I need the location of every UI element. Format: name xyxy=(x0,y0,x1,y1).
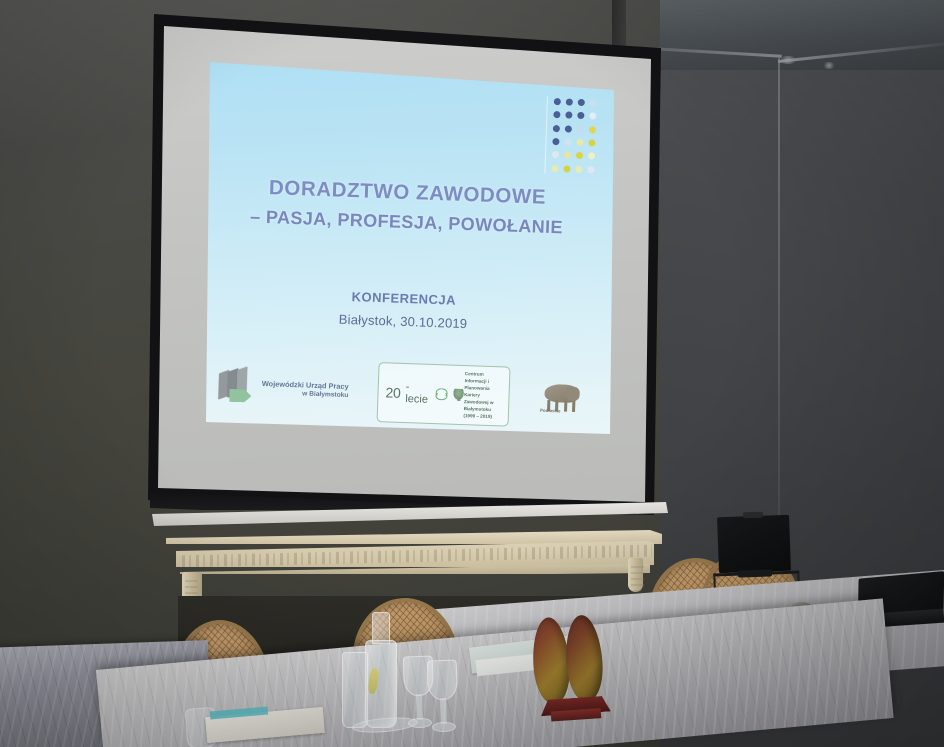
decoration-dot xyxy=(566,99,573,106)
wup-mark-icon xyxy=(216,368,257,405)
decoration-dot xyxy=(589,126,596,133)
decoration-dot xyxy=(577,112,584,119)
decoration-dot xyxy=(590,113,597,120)
black-monitor xyxy=(717,515,791,573)
wojewodzki-urzad-pracy-logo: Wojewódzki Urząd Pracy w Białymstoku xyxy=(216,368,349,409)
slide-title: DORADZTWO ZAWODOWE – PASJA, PROFESJA, PO… xyxy=(204,174,610,240)
wooden-award-trophy xyxy=(530,613,614,730)
decoration-dot xyxy=(552,138,559,145)
drinking-glass xyxy=(342,652,368,728)
mantel-corbel-right xyxy=(628,558,643,592)
20-lecie-number: 20 xyxy=(385,384,401,401)
slide-content: DORADZTWO ZAWODOWE – PASJA, PROFESJA, PO… xyxy=(197,62,614,442)
decoration-dot xyxy=(564,139,571,146)
decoration-dot xyxy=(588,166,595,173)
podlaskie-bison-logo: Podlaskie xyxy=(538,378,585,420)
20-lecie-caption: Centrum Informacji i Planowania Kariery … xyxy=(463,371,502,421)
recycle-icon xyxy=(435,388,447,399)
decoration-dot xyxy=(553,111,560,118)
slide-location-date: Białystok, 30.10.2019 xyxy=(201,307,605,336)
decoration-dot xyxy=(576,139,583,146)
green-arrow-icon xyxy=(229,389,251,403)
ceiling-light-2 xyxy=(822,62,836,69)
wup-logo-text: Wojewódzki Urząd Pracy w Białymstoku xyxy=(261,379,349,401)
slide-title-line2: – PASJA, PROFESJA, POWOŁANIE xyxy=(204,205,608,240)
tree-icon xyxy=(452,388,465,400)
decoration-dot xyxy=(563,165,570,172)
podlaskie-caption: Podlaskie xyxy=(540,408,561,414)
decoration-dot xyxy=(551,151,558,158)
mantel-top-slab xyxy=(166,530,662,544)
20-lecie-caption-line2: Zawodowej w Białymstoku (1999 – 2019) xyxy=(463,399,501,421)
decoration-dot xyxy=(578,99,585,106)
20-lecie-headline: 20 -lecie xyxy=(385,380,464,407)
decoration-dot xyxy=(565,112,572,119)
slide-logo-strip: Wojewódzki Urząd Pracy w Białymstoku 20 … xyxy=(208,358,594,427)
slide-subtitle: KONFERENCJA Białystok, 30.10.2019 xyxy=(201,284,606,336)
mantel-frieze xyxy=(176,541,654,567)
trophy-right-wing xyxy=(563,614,605,702)
20-lecie-logo: 20 -lecie Centrum Informacji i Planowani… xyxy=(377,362,511,426)
decoration-dot xyxy=(588,153,595,160)
decoration-dot xyxy=(576,152,583,159)
20-lecie-suffix: -lecie xyxy=(405,381,430,406)
conference-room-photo: DORADZTWO ZAWODOWE – PASJA, PROFESJA, PO… xyxy=(0,0,944,747)
decoration-dot xyxy=(577,126,584,133)
dot-grid-decoration-icon xyxy=(544,96,599,176)
decoration-dot xyxy=(553,98,560,105)
decoration-dot xyxy=(564,152,571,159)
20-lecie-caption-line1: Centrum Informacji i Planowania Kariery xyxy=(464,371,502,400)
bison-head-icon xyxy=(565,387,579,401)
decoration-dot xyxy=(552,125,559,132)
trophy-foot xyxy=(551,708,602,721)
decoration-dot xyxy=(565,125,572,132)
decoration-dot xyxy=(589,139,596,146)
frieze-ornament xyxy=(182,545,652,567)
decoration-dot xyxy=(575,166,582,173)
decoration-dot xyxy=(551,165,558,172)
wine-goblet xyxy=(427,660,460,739)
decoration-dot xyxy=(590,99,597,106)
projection-screen: DORADZTWO ZAWODOWE – PASJA, PROFESJA, PO… xyxy=(148,2,668,547)
